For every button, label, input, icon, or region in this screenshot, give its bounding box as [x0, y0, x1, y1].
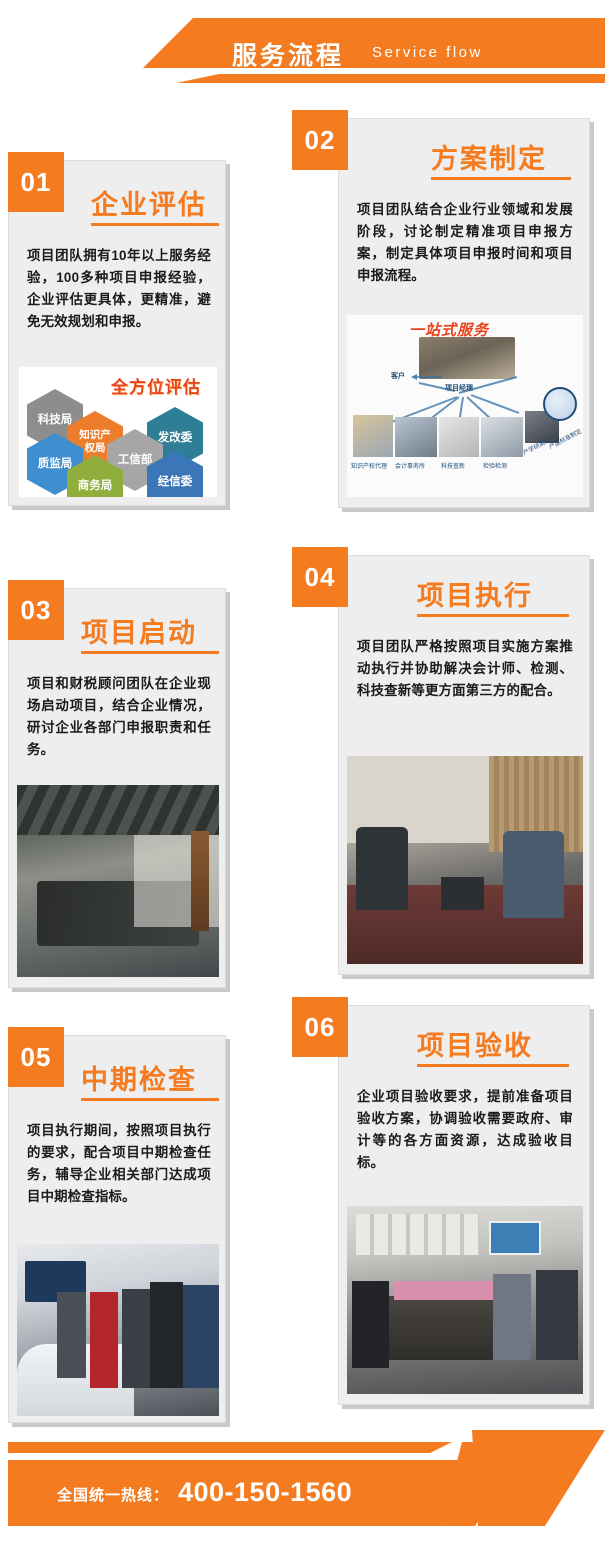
one-stop-diagram: 一站式服务 客户 项目经理 知识产权代理	[347, 315, 583, 497]
one-stop-certification-badge	[543, 387, 577, 421]
one-stop-leaf-0: 知识产权代理	[351, 461, 387, 470]
photo-acceptance-meeting	[347, 1206, 583, 1394]
card-04-number: 04	[305, 562, 336, 593]
header-subtitle: Service flow	[372, 44, 483, 61]
header-banner: 服务流程 Service flow	[0, 0, 605, 108]
footer-hotline-number: 400-150-1560	[178, 1477, 352, 1508]
one-stop-leaf-1: 会计事务所	[395, 461, 425, 470]
hexagon-diagram: 全方位评估 科技局 知识产权局 发改委 质监局 工信部 商务局 经信委	[19, 367, 217, 497]
card-02-number-badge: 02	[292, 110, 348, 170]
card-03-body: 项目和财税顾问团队在企业现场启动项目，结合企业情况，研讨企业各部门申报职责和任务…	[27, 673, 211, 761]
card-01-title: 企业评估	[91, 183, 207, 222]
one-stop-leaf-2: 科技查新	[441, 461, 465, 470]
hexagon-diagram-title: 全方位评估	[111, 373, 201, 398]
hex-node-2-label: 发改委	[158, 432, 193, 445]
photo-worksession	[347, 756, 583, 964]
card-06-title-rule	[417, 1064, 569, 1067]
card-06-body: 企业项目验收要求，提前准备项目验收方案，协调验收需要政府、审计等的各方面资源，达…	[357, 1086, 573, 1174]
one-stop-center-label: 项目经理	[445, 383, 473, 393]
card-04-number-badge: 04	[292, 547, 348, 607]
one-stop-tile-0	[353, 415, 393, 457]
card-04: 项目执行 项目团队严格按照项目实施方案推动执行并协助解决会计师、检测、科技查新等…	[338, 555, 590, 975]
one-stop-client-label: 客户	[391, 371, 405, 381]
card-01-title-rule	[91, 223, 219, 226]
hex-node-3-label: 质监局	[38, 458, 73, 471]
card-04-title-rule	[417, 614, 569, 617]
card-06-number-badge: 06	[292, 997, 348, 1057]
card-06-figure	[347, 1206, 583, 1394]
card-05-title-rule	[81, 1098, 219, 1101]
card-02-title-rule	[431, 177, 571, 180]
hex-node-5-label: 商务局	[78, 480, 113, 493]
card-03-title-rule	[81, 651, 219, 654]
card-01-figure: 全方位评估 科技局 知识产权局 发改委 质监局 工信部 商务局 经信委	[19, 367, 217, 497]
card-02: 方案制定 项目团队结合企业行业领域和发展阶段，讨论制定精准项目申报方案，制定具体…	[338, 118, 590, 508]
card-05-body: 项目执行期间，按照项目执行的要求，配合项目中期检查任务，辅导企业相关部门达成项目…	[27, 1120, 211, 1208]
card-03-figure	[17, 785, 219, 977]
card-06-number: 06	[305, 1012, 336, 1043]
card-05: 中期检查 项目执行期间，按照项目执行的要求，配合项目中期检查任务，辅导企业相关部…	[8, 1035, 226, 1423]
photo-meeting-room	[17, 785, 219, 977]
card-02-title: 方案制定	[431, 137, 547, 176]
card-06-title: 项目验收	[417, 1024, 533, 1063]
footer-hotline-label: 全国统一热线：	[57, 1484, 169, 1505]
card-03-title: 项目启动	[81, 611, 197, 650]
hex-node-4-label: 工信部	[118, 454, 153, 467]
card-02-number: 02	[305, 125, 336, 156]
card-02-figure: 一站式服务 客户 项目经理 知识产权代理	[347, 315, 583, 497]
hex-node-6-label: 经信委	[158, 476, 193, 489]
one-stop-tile-1	[395, 417, 437, 457]
card-01-number: 01	[21, 167, 52, 198]
card-05-figure	[17, 1244, 219, 1416]
card-05-number-badge: 05	[8, 1027, 64, 1087]
header-title: 服务流程	[232, 36, 344, 72]
card-06: 项目验收 企业项目验收要求，提前准备项目验收方案，协调验收需要政府、审计等的各方…	[338, 1005, 590, 1405]
card-04-body: 项目团队严格按照项目实施方案推动执行并协助解决会计师、检测、科技查新等更方面第三…	[357, 636, 573, 702]
card-04-title: 项目执行	[417, 574, 533, 613]
hex-node-0-label: 科技局	[38, 414, 73, 427]
one-stop-leaf-3: 检验检测	[483, 461, 507, 470]
card-01-body: 项目团队拥有10年以上服务经验，100多种项目申报经验，企业评估更具体，更精准，…	[27, 245, 211, 333]
card-03-number-badge: 03	[8, 580, 64, 640]
card-03-number: 03	[21, 595, 52, 626]
card-05-number: 05	[21, 1042, 52, 1073]
one-stop-tile-3	[481, 417, 523, 457]
photo-site-visit	[17, 1244, 219, 1416]
one-stop-tile-2	[439, 417, 479, 457]
card-04-figure	[347, 756, 583, 964]
card-03: 项目启动 项目和财税顾问团队在企业现场启动项目，结合企业情况，研讨企业各部门申报…	[8, 588, 226, 988]
card-02-body: 项目团队结合企业行业领域和发展阶段，讨论制定精准项目申报方案，制定具体项目申报时…	[357, 199, 573, 287]
card-01-number-badge: 01	[8, 152, 64, 212]
card-05-title: 中期检查	[81, 1058, 197, 1097]
